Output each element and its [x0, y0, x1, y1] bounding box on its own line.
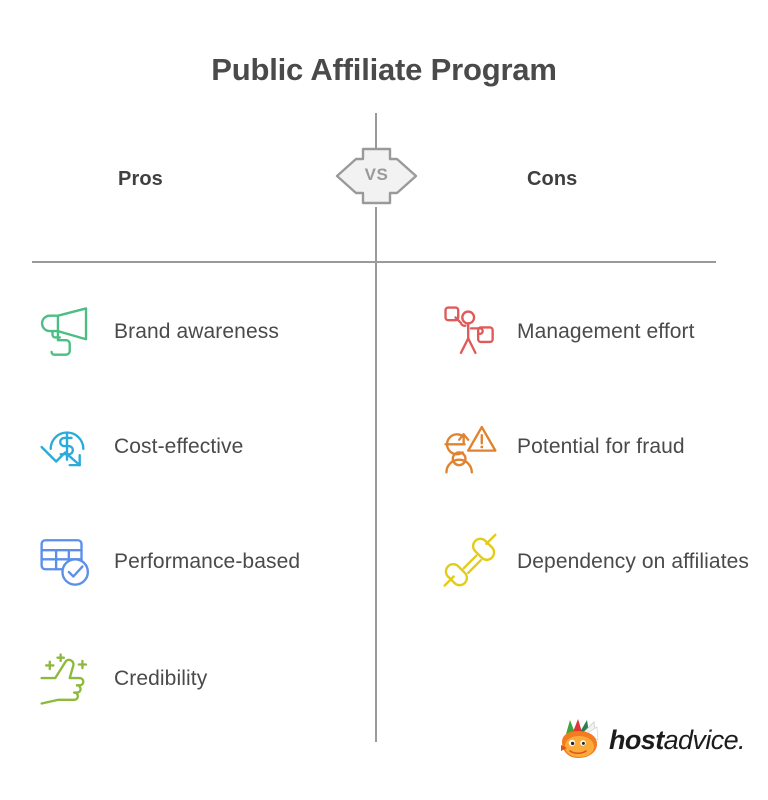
page-title: Public Affiliate Program [0, 52, 768, 88]
hostadvice-wordmark: hostadvice. [609, 725, 745, 756]
infographic-canvas: Public Affiliate Program Pros Cons VS Br… [0, 0, 768, 800]
pros-item-label: Credibility [114, 665, 207, 692]
pros-item-label: Cost-effective [114, 433, 243, 460]
pros-item-label: Brand awareness [114, 318, 279, 345]
cons-item-label: Potential for fraud [517, 433, 685, 460]
cons-item-potential-for-fraud: Potential for fraud [441, 418, 751, 476]
logo-bold-text: host [609, 725, 664, 755]
cons-item-management-effort: Management effort [441, 303, 751, 361]
pros-item-cost-effective: Cost-effective [38, 418, 348, 476]
vs-label: VS [333, 165, 420, 185]
horizontal-divider [32, 261, 716, 263]
logo-regular-text: advice. [664, 725, 745, 755]
pros-item-performance-based: Performance-based [38, 533, 348, 591]
pros-column-header: Pros [118, 168, 163, 191]
vertical-divider-top [375, 113, 377, 148]
vertical-divider-main [375, 207, 377, 742]
hostadvice-fox-mascot-icon [556, 718, 602, 762]
pros-item-credibility: Credibility [38, 650, 348, 708]
table-check-icon [38, 533, 96, 591]
pros-item-label: Performance-based [114, 548, 300, 575]
thumbs-up-sparkle-icon [38, 650, 96, 708]
dollar-down-arrow-icon [38, 418, 96, 476]
megaphone-icon [38, 303, 96, 361]
cons-item-dependency-on-affiliates: Dependency on affiliates [441, 533, 751, 591]
hostadvice-logo: hostadvice. [556, 718, 745, 762]
person-warning-icon [441, 418, 499, 476]
vs-badge: VS [333, 145, 420, 207]
cons-item-label: Dependency on affiliates [517, 548, 749, 575]
pros-item-brand-awareness: Brand awareness [38, 303, 348, 361]
cons-column-header: Cons [527, 168, 577, 191]
cons-item-label: Management effort [517, 318, 695, 345]
chain-link-icon [441, 533, 499, 591]
person-juggling-boxes-icon [441, 303, 499, 361]
